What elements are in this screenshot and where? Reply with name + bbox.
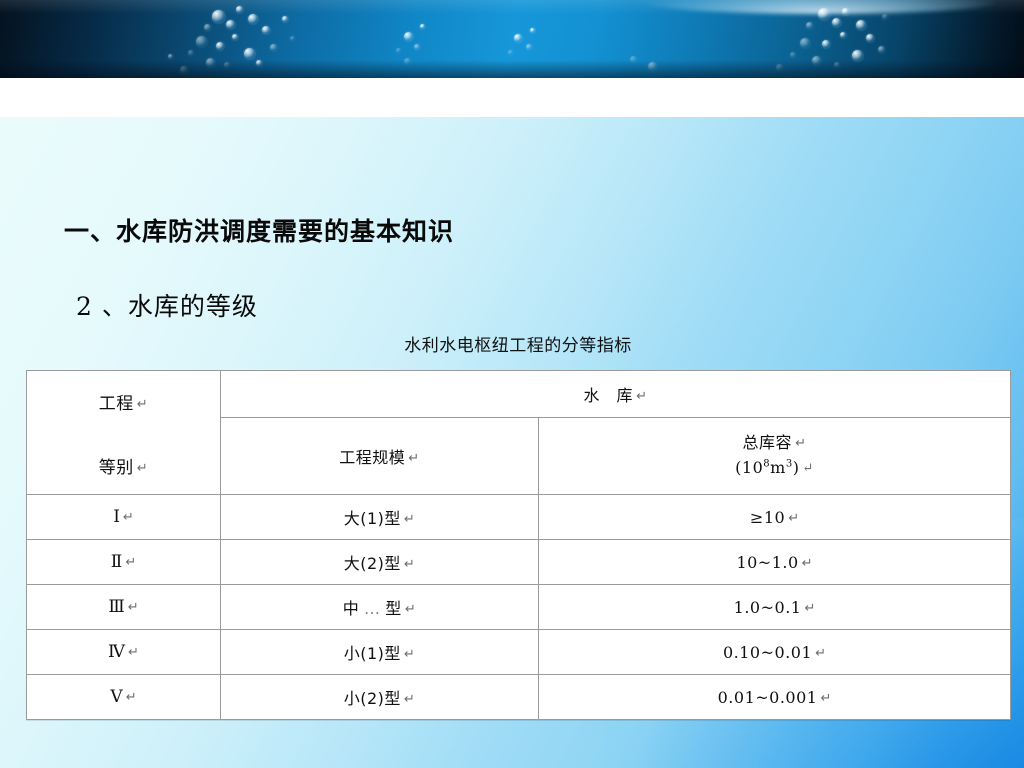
cell-grade: Ⅰ↵ — [27, 495, 221, 540]
bubble-icon — [526, 44, 532, 50]
header-cell-reservoir-group: 水 库↵ — [221, 371, 1011, 418]
table-row: Ⅳ↵ 小(1)型↵ 0.10~0.01↵ — [27, 630, 1011, 675]
cell-volume: 10~1.0↵ — [539, 540, 1011, 585]
header-volume-label: 总库容 — [743, 433, 793, 452]
pilcrow-mark: ↵ — [401, 692, 415, 707]
bubble-icon — [832, 18, 841, 27]
header-grade-line-2: 等别 — [99, 458, 134, 478]
header-volume-unit: (108m3)↵ — [539, 456, 1010, 481]
bubble-icon — [188, 50, 194, 56]
pilcrow-mark: ↵ — [134, 397, 148, 412]
bubble-icon — [168, 54, 173, 59]
header-cell-volume: 总库容↵ (108m3)↵ — [539, 418, 1011, 495]
bubble-icon — [420, 24, 425, 29]
bubble-icon — [216, 42, 224, 50]
pilcrow-mark: ↵ — [402, 602, 416, 617]
bubble-icon — [790, 52, 796, 58]
volume-value: 0.10~0.01 — [723, 643, 812, 662]
table-row: Ⅰ↵ 大(1)型↵ ≥10↵ — [27, 495, 1011, 540]
pilcrow-mark: ↵ — [122, 555, 136, 570]
header-cell-scale: 工程规模↵ — [221, 418, 539, 495]
bubble-icon — [236, 6, 243, 13]
pilcrow-mark: ↵ — [812, 646, 826, 661]
pilcrow-mark: ↵ — [799, 461, 813, 476]
cell-scale: 中…型↵ — [221, 585, 539, 630]
scale-value: 大(1)型 — [344, 509, 401, 528]
table-row: Ⅴ↵ 小(2)型↵ 0.01~0.001↵ — [27, 675, 1011, 720]
pilcrow-mark: ↵ — [401, 512, 415, 527]
bubble-icon — [204, 24, 211, 31]
grade-value: Ⅲ — [108, 597, 124, 617]
banner-bottom-shadow — [0, 60, 1024, 78]
pilcrow-mark: ↵ — [633, 389, 647, 404]
pilcrow-mark: ↵ — [401, 647, 415, 662]
header-grade-line-1: 工程 — [99, 394, 134, 414]
bubble-icon — [822, 40, 830, 48]
bubble-icon — [842, 8, 849, 15]
unit-open: (10 — [735, 458, 763, 477]
header-grade-line-1-wrap: 工程↵ — [27, 389, 220, 414]
scale-value-prefix: 中 — [343, 599, 360, 618]
header-volume-label-wrap: 总库容↵ — [539, 431, 1010, 456]
bubble-icon — [282, 16, 288, 22]
presentation-slide: 一、水库防洪调度需要的基本知识 2 、水库的等级 水利水电枢纽工程的分等指标 工… — [0, 0, 1024, 768]
bubble-icon — [878, 46, 885, 53]
bubble-icon — [806, 22, 813, 29]
bubble-icon — [866, 34, 874, 42]
grade-value: Ⅴ — [110, 687, 122, 707]
table-row: Ⅲ↵ 中…型↵ 1.0~0.1↵ — [27, 585, 1011, 630]
volume-value: 0.01~0.001 — [718, 688, 818, 707]
table-caption: 水利水电枢纽工程的分等指标 — [26, 331, 1010, 356]
bubble-icon — [290, 36, 295, 41]
pilcrow-mark: ↵ — [123, 690, 137, 705]
page-title: 一、水库防洪调度需要的基本知识 — [64, 212, 454, 248]
cell-grade: Ⅱ↵ — [27, 540, 221, 585]
bubble-icon — [404, 32, 413, 41]
cell-volume: ≥10↵ — [539, 495, 1011, 540]
underwater-bubbles-banner — [0, 0, 1024, 78]
bubble-icon — [514, 34, 522, 42]
bubble-icon — [882, 14, 888, 20]
scale-value-suffix: 型 — [385, 599, 402, 618]
cell-grade: Ⅲ↵ — [27, 585, 221, 630]
grade-value: Ⅳ — [108, 642, 125, 662]
cell-scale: 小(1)型↵ — [221, 630, 539, 675]
scale-value: 小(2)型 — [344, 689, 401, 708]
bubble-icon — [396, 48, 401, 53]
scale-value: 大(2)型 — [344, 554, 401, 573]
pilcrow-mark: ↵ — [125, 600, 139, 615]
unit-exponent-m: 3 — [786, 459, 793, 470]
grade-value: Ⅰ — [113, 507, 120, 527]
cell-grade: Ⅴ↵ — [27, 675, 221, 720]
pilcrow-mark: ↵ — [801, 601, 815, 616]
cell-scale: 大(2)型↵ — [221, 540, 539, 585]
unit-mid: m — [770, 458, 786, 477]
header-scale-label: 工程规模 — [339, 448, 405, 467]
pilcrow-mark: ↵ — [134, 461, 148, 476]
header-grade-line-2-wrap: 等别↵ — [27, 453, 220, 478]
grade-value: Ⅱ — [111, 552, 123, 572]
pilcrow-mark: ↵ — [125, 645, 139, 660]
bubble-icon — [270, 44, 277, 51]
scale-value-gap: … — [359, 599, 385, 618]
cell-grade: Ⅳ↵ — [27, 630, 221, 675]
header-cell-grade: 工程↵ 等别↵ — [27, 371, 221, 495]
cell-volume: 0.10~0.01↵ — [539, 630, 1011, 675]
bubble-icon — [530, 28, 535, 33]
cell-scale: 大(1)型↵ — [221, 495, 539, 540]
bubble-icon — [248, 14, 258, 24]
pilcrow-mark: ↵ — [817, 691, 831, 706]
bubble-icon — [840, 32, 846, 38]
cell-scale: 小(2)型↵ — [221, 675, 539, 720]
bubble-icon — [508, 50, 513, 55]
pilcrow-mark: ↵ — [785, 511, 799, 526]
bubble-icon — [212, 10, 225, 23]
classification-table: 工程↵ 等别↵ 水 库↵ 工程规模↵ 总库容↵ (108m3)↵ Ⅰ↵ 大(1)… — [26, 370, 1011, 720]
cell-volume: 0.01~0.001↵ — [539, 675, 1011, 720]
bubble-icon — [856, 20, 866, 30]
bubble-icon — [800, 38, 810, 48]
bubble-icon — [244, 48, 255, 59]
table-row: Ⅱ↵ 大(2)型↵ 10~1.0↵ — [27, 540, 1011, 585]
pilcrow-mark: ↵ — [792, 436, 806, 451]
bubble-icon — [196, 36, 207, 47]
bubble-icon — [414, 44, 420, 50]
bubble-icon — [262, 26, 270, 34]
classification-table-container: 工程↵ 等别↵ 水 库↵ 工程规模↵ 总库容↵ (108m3)↵ Ⅰ↵ 大(1)… — [26, 370, 1010, 720]
pilcrow-mark: ↵ — [405, 451, 419, 466]
section-subtitle: 2 、水库的等级 — [76, 287, 258, 323]
scale-value: 小(1)型 — [344, 644, 401, 663]
volume-value: ≥10 — [750, 508, 785, 527]
bubble-icon — [226, 20, 235, 29]
table-header-row-1: 工程↵ 等别↵ 水 库↵ — [27, 371, 1011, 418]
pilcrow-mark: ↵ — [799, 556, 813, 571]
volume-value: 1.0~0.1 — [734, 598, 802, 617]
pilcrow-mark: ↵ — [120, 510, 134, 525]
volume-value: 10~1.0 — [736, 553, 798, 572]
pilcrow-mark: ↵ — [401, 557, 415, 572]
header-reservoir-label: 水 库 — [584, 386, 634, 405]
bubble-icon — [232, 34, 238, 40]
bubble-icon — [818, 8, 830, 20]
cell-volume: 1.0~0.1↵ — [539, 585, 1011, 630]
